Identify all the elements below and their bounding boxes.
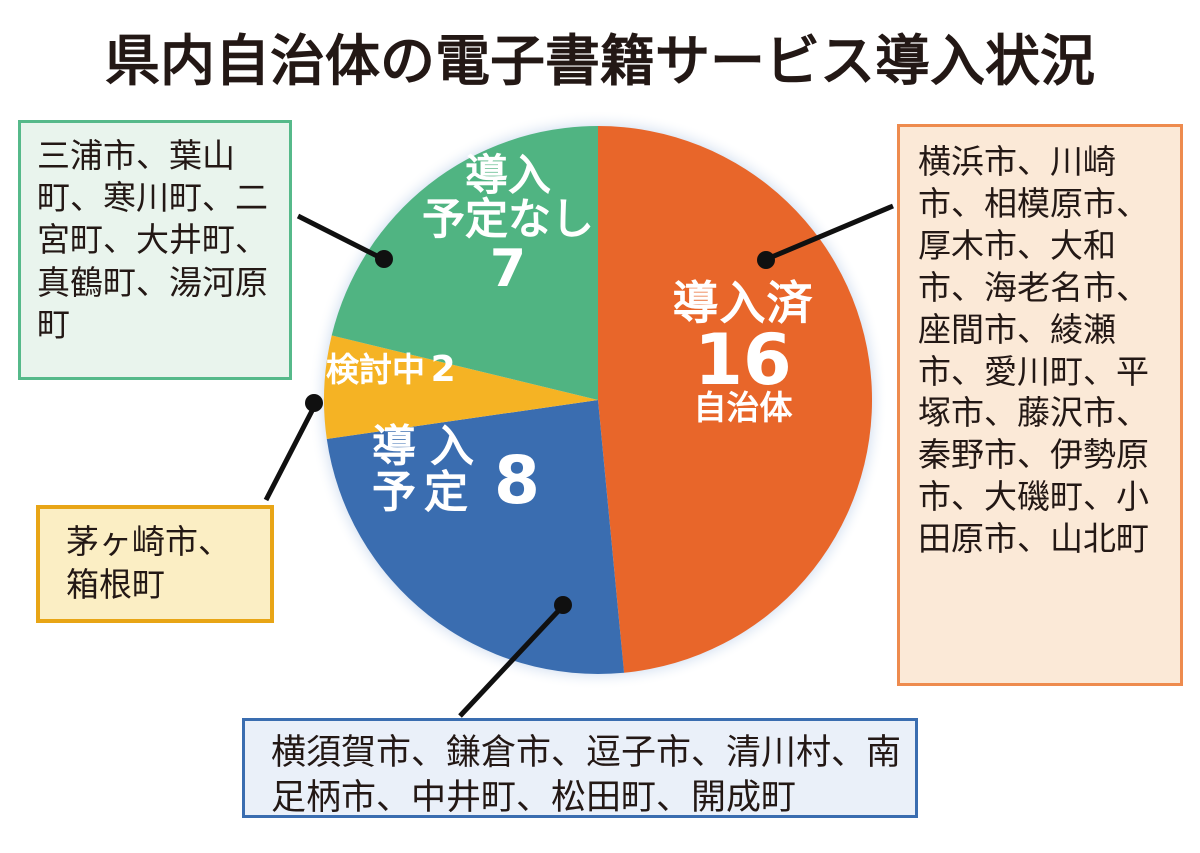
callout-box-planned-text: 横須賀市、鎌倉市、逗子市、清川村、南足柄市、中井町、松田町、開成町 <box>271 731 905 821</box>
callout-box-none-text: 三浦市、葉山町、寒川町、二宮町、大井町、真鶴町、湯河原町 <box>37 135 275 346</box>
slice-label-planned-line1: 導入 <box>372 424 488 470</box>
callout-box-none: 三浦市、葉山町、寒川町、二宮町、大井町、真鶴町、湯河原町 <box>18 120 292 380</box>
slice-label-planned-line2: 予定 <box>372 470 488 516</box>
infographic-canvas: 県内自治体の電子書籍サービス導入状況 導入済 16 自治体 <box>0 0 1200 853</box>
pie-slice-introduced[interactable] <box>598 126 872 673</box>
callout-box-planned: 横須賀市、鎌倉市、逗子市、清川村、南足柄市、中井町、松田町、開成町 <box>242 718 918 818</box>
slice-label-planned-value: 8 <box>494 442 540 519</box>
callout-box-introduced-text: 横浜市、川崎市、相模原市、厚木市、大和市、海老名市、座間市、綾瀬市、愛川町、平塚… <box>918 141 1166 560</box>
callout-box-considering: 茅ヶ崎市、箱根町 <box>36 505 274 623</box>
slice-label-planned: 導入 予定 8 <box>372 420 540 519</box>
callout-box-introduced: 横浜市、川崎市、相模原市、厚木市、大和市、海老名市、座間市、綾瀬市、愛川町、平塚… <box>897 124 1183 686</box>
callout-box-considering-text: 茅ヶ崎市、箱根町 <box>66 521 260 607</box>
pie-slices <box>324 126 872 674</box>
